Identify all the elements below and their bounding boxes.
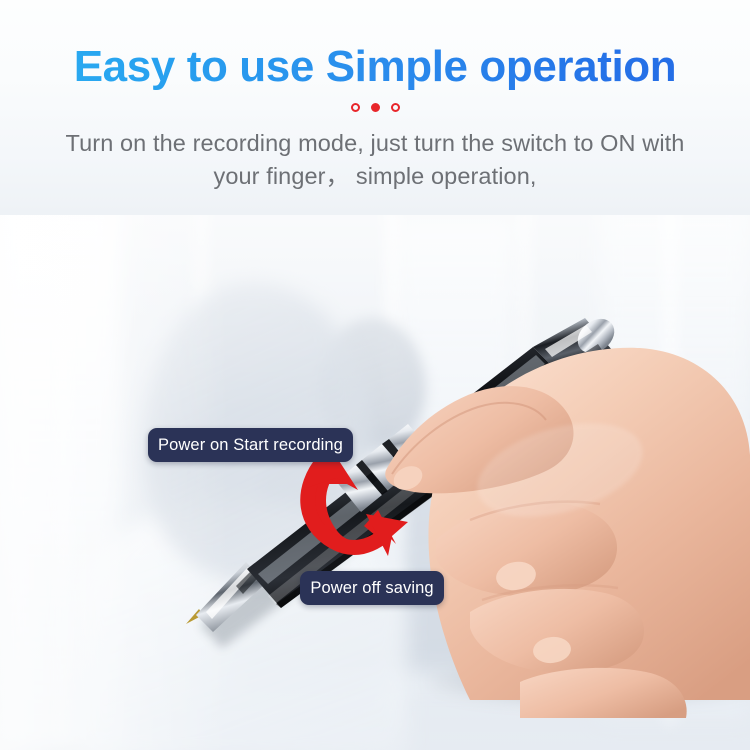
dot-3 — [391, 103, 400, 112]
dot-2 — [371, 103, 380, 112]
page-subtitle: Turn on the recording mode, just turn th… — [45, 127, 705, 192]
page-title: Easy to use Simple operation — [0, 0, 750, 90]
dot-separator — [0, 100, 750, 114]
header-block: Easy to use Simple operation Turn on the… — [0, 0, 750, 215]
callout-power-on[interactable]: Power on Start recording — [148, 428, 353, 462]
callout-power-off[interactable]: Power off saving — [300, 571, 444, 605]
dot-1 — [351, 103, 360, 112]
hand-icon — [385, 348, 750, 718]
product-poster: Power on Start recording Power off savin… — [0, 0, 750, 750]
